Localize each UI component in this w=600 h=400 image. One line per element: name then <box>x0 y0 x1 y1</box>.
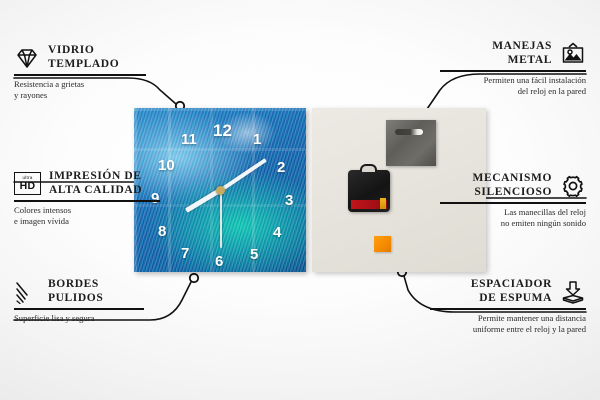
clock-numeral-7: 7 <box>181 246 189 261</box>
feature-description: Permite mantener una distancia uniforme … <box>430 313 586 336</box>
feature-bordes-pulidos: BORDES PULIDOS Superficie lisa y segura <box>14 278 144 324</box>
feature-vidrio-templado: VIDRIO TEMPLADO Resistencia a grietas y … <box>14 44 146 102</box>
clock-numeral-4: 4 <box>273 225 281 240</box>
clock-numeral-12: 12 <box>213 122 232 139</box>
feature-espaciador-de-espuma: ESPACIADOR DE ESPUMA Permite mantener un… <box>430 278 586 336</box>
feature-description: Permiten una fácil instalación del reloj… <box>440 75 586 98</box>
picture-frame-hanger-icon <box>560 42 586 66</box>
clock-numeral-11: 11 <box>181 132 197 147</box>
mechanism-tab <box>360 164 377 172</box>
feature-rule <box>440 202 586 204</box>
feature-rule <box>14 200 160 202</box>
clock-numeral-2: 2 <box>277 160 285 175</box>
feature-description: Colores intensos e imagen vívida <box>14 205 160 228</box>
hanger-slot <box>395 129 423 135</box>
feature-title-line1: MECANISMO <box>472 172 552 186</box>
feature-manejas-metal: MANEJAS METAL Permiten una fácil instala… <box>440 40 586 98</box>
mechanism-yellow-chip <box>380 198 386 209</box>
feature-title-line2: ALTA CALIDAD <box>49 184 142 198</box>
feature-rule <box>430 308 586 310</box>
ultra-hd-icon: ultra HD <box>14 172 41 195</box>
infographic-canvas: 12 1 2 3 4 5 6 7 8 9 10 11 <box>0 0 600 400</box>
foam-spacer-arrow-icon <box>560 280 586 304</box>
feature-description: Las manecillas del reloj no emiten ningú… <box>440 207 586 230</box>
clock-hand-second <box>220 190 222 248</box>
feature-description: Superficie lisa y segura <box>14 313 144 325</box>
feature-impresion-alta-calidad: ultra HD IMPRESIÓN DE ALTA CALIDAD Color… <box>14 170 160 228</box>
feature-rule <box>440 70 586 72</box>
feature-title-line2: TEMPLADO <box>48 58 119 72</box>
clock-numeral-3: 3 <box>285 193 293 208</box>
quartz-mechanism <box>348 170 390 212</box>
connector-dot-bordes <box>190 274 198 282</box>
metal-hanger-plate <box>386 120 436 166</box>
clock-numeral-1: 1 <box>253 132 261 147</box>
clock-hand-hub <box>216 186 225 195</box>
feature-title-line2: METAL <box>492 54 552 68</box>
polished-edges-icon <box>14 280 40 304</box>
feature-title-line1: MANEJAS <box>492 40 552 54</box>
feature-title-line1: ESPACIADOR <box>471 278 552 292</box>
feature-title-line1: IMPRESIÓN DE <box>49 170 142 184</box>
feature-rule <box>14 74 146 76</box>
feature-mecanismo-silencioso: MECANISMO SILENCIOSO Las manecillas del … <box>440 172 586 230</box>
feature-title-line1: BORDES <box>48 278 103 292</box>
gear-icon <box>560 174 586 198</box>
feature-description: Resistencia a grietas y rayones <box>14 79 146 102</box>
feature-title-line2: PULIDOS <box>48 292 103 306</box>
foam-spacer-pad <box>374 236 391 252</box>
ultra-hd-icon-large-text: HD <box>20 181 36 192</box>
diamond-icon <box>14 46 40 70</box>
feature-rule <box>14 308 144 310</box>
clock-numeral-5: 5 <box>250 247 258 262</box>
clock-numeral-6: 6 <box>215 254 223 269</box>
feature-title-line2: SILENCIOSO <box>472 186 552 200</box>
feature-title-line1: VIDRIO <box>48 44 119 58</box>
feature-title-line2: DE ESPUMA <box>471 292 552 306</box>
clock-numeral-10: 10 <box>158 158 175 173</box>
